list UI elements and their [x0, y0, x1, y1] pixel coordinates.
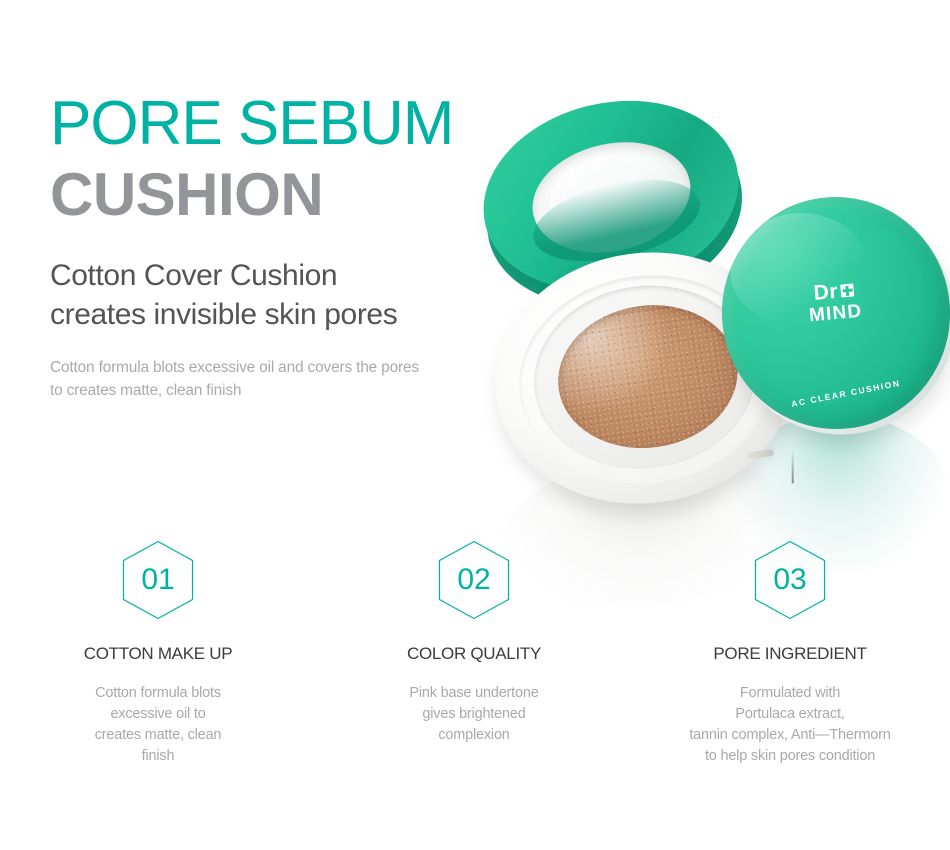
page-title-line-2: CUSHION — [50, 162, 530, 228]
feature-desc-line: Pink base undertone — [316, 683, 632, 704]
page-title-line-1: PORE SEBUM — [50, 92, 530, 156]
brand-name-dr: Dr — [813, 280, 839, 303]
lid-caption: AC CLEAR CUSHION — [733, 367, 950, 420]
feature-desc-line: Cotton formula blots — [0, 683, 316, 704]
feature-title-02: COLOR QUALITY — [316, 644, 632, 664]
hexagon-badge-01: 01 — [122, 540, 194, 620]
hero-text-block: PORE SEBUM CUSHION Cotton Cover Cushion … — [50, 92, 530, 402]
feature-description-01: Cotton formula blots excessive oil to cr… — [0, 683, 316, 767]
closed-lid-disc: Dr MIND AC CLEAR CUSHION — [709, 184, 950, 442]
feature-desc-line: to help skin pores condition — [632, 746, 948, 767]
feature-title-03: PORE INGREDIENT — [632, 644, 948, 664]
feature-badge-wrap-03: 03 — [632, 540, 948, 620]
feature-desc-line: Portulaca extract, — [632, 704, 948, 725]
feature-number-03: 03 — [773, 565, 806, 595]
feature-number-02: 02 — [457, 565, 490, 595]
hexagon-badge-03: 03 — [754, 540, 826, 620]
subheading: Cotton Cover Cushion creates invisible s… — [50, 256, 530, 334]
feature-description-03: Formulated with Portulaca extract, tanni… — [632, 683, 948, 767]
subheading-line-1: Cotton Cover Cushion — [50, 256, 530, 295]
feature-desc-line: excessive oil to — [0, 704, 316, 725]
hero-description-line-1: Cotton formula blots excessive oil and c… — [50, 356, 530, 379]
medical-cross-icon — [840, 283, 854, 297]
product-photo: Dr MIND AC CLEAR CUSHION — [470, 85, 950, 555]
cushion-texture — [549, 293, 747, 459]
feature-desc-line: Formulated with — [632, 683, 948, 704]
hero-description-line-2: to creates matte, clean finish — [50, 379, 530, 402]
product-stage: Dr MIND AC CLEAR CUSHION — [470, 85, 950, 555]
subheading-line-2: creates invisible skin pores — [50, 295, 530, 334]
feature-desc-line: creates matte, clean — [0, 725, 316, 746]
feature-badge-wrap-01: 01 — [0, 540, 316, 620]
feature-item-03: 03 PORE INGREDIENT Formulated with Portu… — [632, 540, 948, 767]
feature-desc-line: finish — [0, 746, 316, 767]
feature-item-01: 01 COTTON MAKE UP Cotton formula blots e… — [0, 540, 316, 767]
feature-number-01: 01 — [141, 565, 174, 595]
feature-desc-line: gives brightened — [316, 704, 632, 725]
feature-item-02: 02 COLOR QUALITY Pink base undertone giv… — [316, 540, 632, 767]
feature-description-02: Pink base undertone gives brightened com… — [316, 683, 632, 746]
feature-badge-wrap-02: 02 — [316, 540, 632, 620]
hexagon-badge-02: 02 — [438, 540, 510, 620]
cushion-puff — [549, 293, 747, 459]
feature-title-01: COTTON MAKE UP — [0, 644, 316, 664]
feature-desc-line: complexion — [316, 725, 632, 746]
product-promo-page: PORE SEBUM CUSHION Cotton Cover Cushion … — [0, 0, 950, 850]
feature-desc-line: tannin complex, Anti—Thermorn — [632, 725, 948, 746]
feature-list: 01 COTTON MAKE UP Cotton formula blots e… — [0, 540, 950, 767]
hero-description: Cotton formula blots excessive oil and c… — [50, 356, 530, 402]
compact-seam — [792, 449, 794, 483]
